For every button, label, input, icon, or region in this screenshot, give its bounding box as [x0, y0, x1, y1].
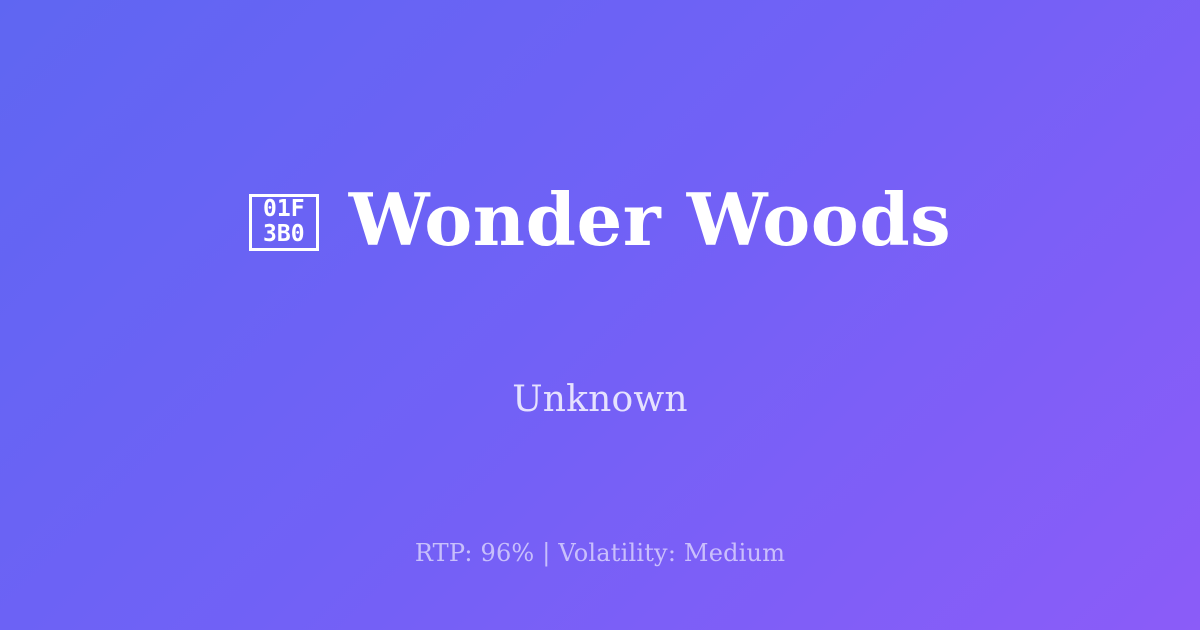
slot-machine-icon-codepoint-low: 3B0 — [263, 222, 305, 247]
page-subtitle: Unknown — [512, 378, 688, 422]
hero-block: 01F 3B0 Wonder Woods Unknown — [0, 0, 1200, 630]
footer: RTP: 96% | Volatility: Medium — [0, 538, 1200, 568]
page-title: Wonder Woods — [349, 178, 951, 262]
slot-machine-icon: 01F 3B0 — [249, 194, 319, 251]
title-row: 01F 3B0 Wonder Woods — [0, 130, 1200, 310]
slot-machine-icon-codepoint-high: 01F — [263, 197, 305, 222]
game-stats-text: RTP: 96% | Volatility: Medium — [415, 539, 785, 567]
game-preview-card: 01F 3B0 Wonder Woods Unknown RTP: 96% | … — [0, 0, 1200, 630]
